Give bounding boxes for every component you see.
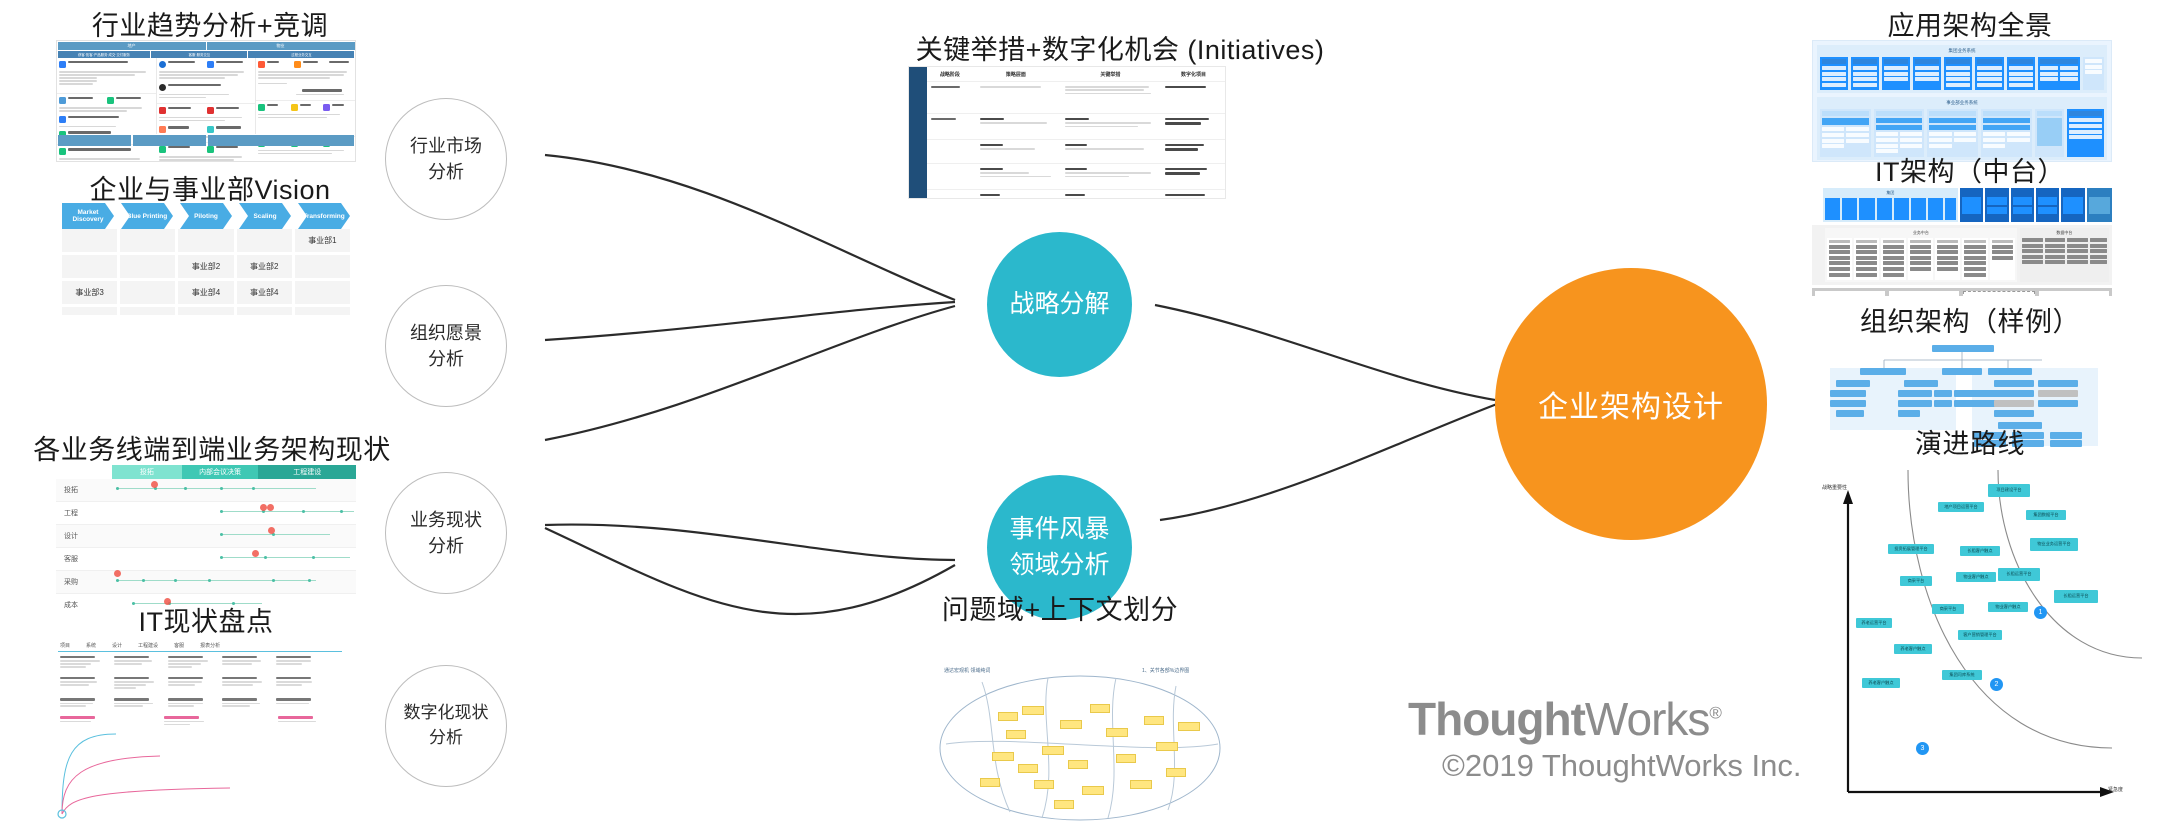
vision-cell bbox=[62, 307, 120, 315]
roadmap-point: 养老客户触点 bbox=[1862, 678, 1900, 688]
thumbnail-roadmap: 战略重要性 紧急度 项目建设平台 集团数据平台 物业业务运营平台 长租运营平台 … bbox=[1812, 462, 2142, 822]
tech-item bbox=[1889, 291, 1959, 296]
roadmap-point: 集团司库系统 bbox=[1942, 670, 1982, 680]
page-title-it-inventory: IT现状盘点 bbox=[56, 600, 356, 639]
stage-circle-line1: 组织愿景 bbox=[410, 323, 482, 343]
thumbnail-industry-trend: 地产物业 获客·拓客·产品服务·成交·交付服务 客服·服务交互 过程业务交互 bbox=[56, 40, 356, 162]
sticky-note bbox=[1054, 800, 1074, 809]
band-title: 数据中台 bbox=[2022, 230, 2107, 236]
page-title-problem-domain: 问题域+上下文划分 bbox=[935, 588, 1185, 627]
sticky-note bbox=[980, 778, 1000, 787]
axis-label-y: 战略重要性 bbox=[1822, 484, 1847, 491]
org-node bbox=[1830, 390, 1866, 397]
roadmap-point: 长租运营平台 bbox=[1998, 568, 2040, 581]
stage-circle-market-analysis[interactable]: 行业市场 分析 bbox=[385, 98, 507, 220]
vision-cell: 事业部2 bbox=[237, 255, 295, 281]
sticky-note bbox=[998, 712, 1018, 721]
table-row: 投拓 bbox=[56, 479, 356, 502]
org-node bbox=[1860, 368, 1906, 375]
lane-label: 设计 bbox=[56, 531, 112, 541]
org-node bbox=[1954, 390, 1998, 397]
sticky-note bbox=[1034, 780, 1054, 789]
vision-cell bbox=[295, 307, 350, 315]
roadmap-point: 客户营销管理平台 bbox=[1958, 630, 2002, 640]
table-row bbox=[927, 81, 1225, 113]
roadmap-point: 长租运营平台 bbox=[2054, 590, 2098, 603]
stage-circle-line2: 分析 bbox=[428, 162, 464, 182]
sticky-note bbox=[1090, 704, 1110, 713]
page-title-industry-trend: 行业趋势分析+竞调 bbox=[50, 4, 370, 43]
stage-header: 工程建设 bbox=[258, 465, 356, 479]
sticky-note bbox=[1060, 720, 1082, 729]
vision-cell bbox=[120, 229, 178, 255]
table-row: 事业部1 bbox=[62, 229, 350, 255]
org-node bbox=[1954, 400, 1998, 407]
roadmap-point: 投资拓展管理平台 bbox=[1888, 544, 1934, 554]
vision-phase: Blue Printing bbox=[121, 203, 173, 229]
lane-label: 工程 bbox=[56, 508, 112, 518]
vision-cell: 事业部2 bbox=[178, 255, 236, 281]
roadmap-wave-badge: 3 bbox=[1916, 742, 1929, 755]
org-node bbox=[2038, 380, 2078, 387]
org-node bbox=[1934, 400, 1952, 407]
org-node bbox=[1994, 410, 2034, 417]
sticky-note bbox=[1166, 768, 1186, 777]
roadmap-point: 地产项目运营平台 bbox=[1938, 502, 1984, 512]
org-node bbox=[2038, 400, 2078, 407]
vision-cell bbox=[178, 229, 236, 255]
sticky-note bbox=[1178, 722, 1200, 731]
thumbnail-it-inventory: 项目系统设计工程建设客服报表分析 bbox=[50, 638, 350, 826]
table-row: 设计 bbox=[56, 525, 356, 548]
table-row: 客服 bbox=[56, 548, 356, 571]
vision-cell bbox=[120, 255, 178, 281]
roadmap-point: 养老运营平台 bbox=[1856, 618, 1892, 628]
registered-mark: ® bbox=[1709, 704, 1721, 723]
page-title-application-architecture: 应用架构全景 bbox=[1820, 4, 2120, 43]
table-row: 事业部3 事业部4 事业部4 bbox=[62, 281, 350, 307]
org-node bbox=[1942, 368, 1982, 375]
vision-cell bbox=[120, 281, 178, 307]
roadmap-point: 集团数据平台 bbox=[2026, 510, 2066, 520]
table-row bbox=[927, 139, 1225, 163]
roadmap-point: 长租客户触点 bbox=[1960, 546, 2000, 556]
roadmap-point: 商采平台 bbox=[1932, 604, 1964, 614]
sticky-note bbox=[1022, 706, 1044, 715]
thumbnail-problem-domain: 通达宏观机 领域纯词 1、关节各部%边界图 bbox=[930, 660, 1230, 826]
vision-phase: Scaling bbox=[239, 203, 291, 229]
thumbnail-application-architecture: 集团业务系统 事业部业务系统 bbox=[1812, 40, 2112, 162]
vision-phase: Piloting bbox=[180, 203, 232, 229]
band-title: 集团 bbox=[1825, 190, 1956, 196]
stage-circle-line2: 分析 bbox=[429, 728, 463, 747]
initiatives-sidebar bbox=[909, 67, 927, 198]
page-title-initiatives: 关键举措+数字化机会 (Initiatives) bbox=[900, 28, 1340, 67]
stage-circle-vision-analysis[interactable]: 组织愿景 分析 bbox=[385, 285, 507, 407]
svg-text:1、关节各部%边界图: 1、关节各部%边界图 bbox=[1142, 667, 1189, 674]
vision-cell bbox=[62, 255, 120, 281]
roadmap-point: 物业客户触点 bbox=[1956, 572, 1996, 582]
thumbnail-business-architecture: 投拓 内部会议决策 工程建设 投拓 工程 设计 客服 采购 成本 bbox=[56, 465, 356, 610]
column-header: 关键举措 bbox=[1059, 71, 1162, 78]
stage-header: 投拓 bbox=[112, 465, 182, 479]
thumbnail-initiatives: 战略阶段 策略层面 关键举措 数字化项目 bbox=[908, 66, 1226, 199]
org-node bbox=[1836, 410, 1864, 417]
sticky-note bbox=[1156, 742, 1178, 751]
sticky-note bbox=[1006, 730, 1026, 739]
org-group-panel bbox=[1830, 368, 1956, 430]
band-title: 事业部业务系统 bbox=[1820, 100, 2104, 106]
band-title: 业务中台 bbox=[1827, 230, 2015, 236]
sticky-note bbox=[1018, 764, 1038, 773]
org-node bbox=[1994, 390, 2034, 397]
org-node bbox=[1988, 368, 2032, 375]
roadmap-point: 物业客户触点 bbox=[1988, 602, 2028, 612]
table-row bbox=[927, 163, 1225, 189]
sticky-note bbox=[1042, 746, 1064, 755]
org-node bbox=[1934, 390, 1952, 397]
column-header: 战略阶段 bbox=[927, 71, 973, 78]
axis-label-x: 紧急度 bbox=[2108, 786, 2123, 793]
sticky-note bbox=[1144, 716, 1164, 725]
thumbnail-it-architecture: 集团 业务中台 bbox=[1812, 188, 2112, 296]
vision-cell bbox=[237, 229, 295, 255]
org-node bbox=[1898, 400, 1932, 407]
roadmap-point: 商采平台 bbox=[1900, 576, 1932, 586]
lane-label: 采购 bbox=[56, 577, 112, 587]
table-row: 工程 bbox=[56, 502, 356, 525]
vision-cell bbox=[295, 255, 350, 281]
roadmap-wave-badge: 2 bbox=[1990, 678, 2003, 691]
sticky-note bbox=[1130, 780, 1152, 789]
lane-label: 客服 bbox=[56, 554, 112, 564]
vision-cell bbox=[120, 307, 178, 315]
thoughtworks-logo: ThoughtWorks® bbox=[1408, 692, 1721, 746]
org-node bbox=[1830, 400, 1866, 407]
stage-circle-line1: 业务现状 bbox=[410, 510, 482, 530]
lane-label: 投拓 bbox=[56, 485, 112, 495]
band-title: 集团业务系统 bbox=[1820, 48, 2104, 54]
page-title-it-architecture: IT架构（中台） bbox=[1830, 150, 2110, 189]
vision-cell: 事业部4 bbox=[237, 281, 295, 307]
column-header: 数字化项目 bbox=[1162, 71, 1225, 78]
vision-cell bbox=[295, 281, 350, 307]
org-node bbox=[1898, 390, 1932, 397]
logo-bold: Thought bbox=[1408, 693, 1585, 745]
column-header: 策略层面 bbox=[973, 71, 1059, 78]
roadmap-wave-badge: 1 bbox=[2034, 606, 2047, 619]
stage-circle-line1: 数字化现状 bbox=[404, 703, 489, 722]
stage-circle-business-status[interactable]: 业务现状 分析 bbox=[385, 472, 507, 594]
thumbnail-vision: Market Discovery Blue Printing Piloting … bbox=[62, 203, 350, 315]
page-title-roadmap: 演进路线 bbox=[1850, 422, 2090, 461]
vision-cell: 事业部3 bbox=[62, 281, 120, 307]
roadmap-point: 物业业务运营平台 bbox=[2030, 538, 2078, 551]
sticky-note bbox=[1082, 786, 1104, 795]
page-title-org-architecture: 组织架构（样例） bbox=[1830, 300, 2110, 339]
sticky-note bbox=[1068, 760, 1088, 769]
vision-phase: Market Discovery bbox=[62, 203, 114, 229]
page-title-business-architecture: 各业务线端到端业务架构现状 bbox=[32, 428, 392, 467]
stage-circle-line1: 行业市场 bbox=[410, 136, 482, 156]
slide-canvas: 行业趋势分析+竞调 地产物业 获客·拓客·产品服务·成交·交付服务 客服·服务交… bbox=[0, 0, 2174, 826]
page-title-vision: 企业与事业部Vision bbox=[50, 168, 370, 207]
svg-text:通达宏观机 领域纯词: 通达宏观机 领域纯词 bbox=[944, 667, 990, 674]
vision-cell bbox=[237, 307, 295, 315]
org-node bbox=[1904, 380, 1938, 387]
table-row bbox=[927, 189, 1225, 199]
tech-item bbox=[1963, 291, 2035, 296]
table-row bbox=[927, 113, 1225, 139]
copyright-text: ©2019 ThoughtWorks Inc. bbox=[1442, 748, 1801, 784]
vision-phase: Transforming bbox=[298, 203, 350, 229]
sticky-note bbox=[992, 752, 1014, 761]
vision-cell: 事业部1 bbox=[295, 229, 350, 255]
sticky-note bbox=[1106, 728, 1128, 737]
output-circle-label: 企业架构设计 bbox=[1538, 382, 1724, 426]
center-circle-line1: 事件风暴 bbox=[1009, 515, 1109, 543]
org-node bbox=[1994, 400, 2034, 407]
table-row: 事业部2 事业部2 bbox=[62, 255, 350, 281]
org-node bbox=[1994, 380, 2034, 387]
sticky-note bbox=[1116, 754, 1136, 763]
tech-item bbox=[2039, 291, 2109, 296]
logo-light: Works bbox=[1585, 693, 1710, 745]
center-circle-line1: 战略分解 bbox=[1009, 290, 1109, 318]
vision-phase-row: Market Discovery Blue Printing Piloting … bbox=[62, 203, 350, 229]
vision-cell bbox=[62, 229, 120, 255]
org-node-root bbox=[1932, 345, 1994, 352]
output-circle-enterprise-architecture[interactable]: 企业架构设计 bbox=[1495, 268, 1767, 540]
stage-circle-line2: 分析 bbox=[428, 349, 464, 369]
org-node bbox=[2038, 390, 2078, 397]
table-row: 事业部3 bbox=[62, 307, 350, 315]
stage-header: 内部会议决策 bbox=[182, 465, 259, 479]
tech-item bbox=[1815, 291, 1885, 296]
stage-circle-line2: 分析 bbox=[428, 536, 464, 556]
roadmap-point: 项目建设平台 bbox=[1988, 484, 2030, 497]
table-row: 采购 bbox=[56, 571, 356, 594]
center-circle-strategy-decomposition[interactable]: 战略分解 bbox=[987, 232, 1132, 377]
center-circle-line2: 领域分析 bbox=[1009, 551, 1109, 579]
vision-cell: 事业部3 bbox=[178, 307, 236, 315]
org-node bbox=[1898, 410, 1920, 417]
roadmap-point: 养老客户触点 bbox=[1894, 644, 1932, 654]
stage-circle-digital-status[interactable]: 数字化现状 分析 bbox=[385, 665, 507, 787]
org-node bbox=[1836, 380, 1870, 387]
vision-cell: 事业部4 bbox=[178, 281, 236, 307]
